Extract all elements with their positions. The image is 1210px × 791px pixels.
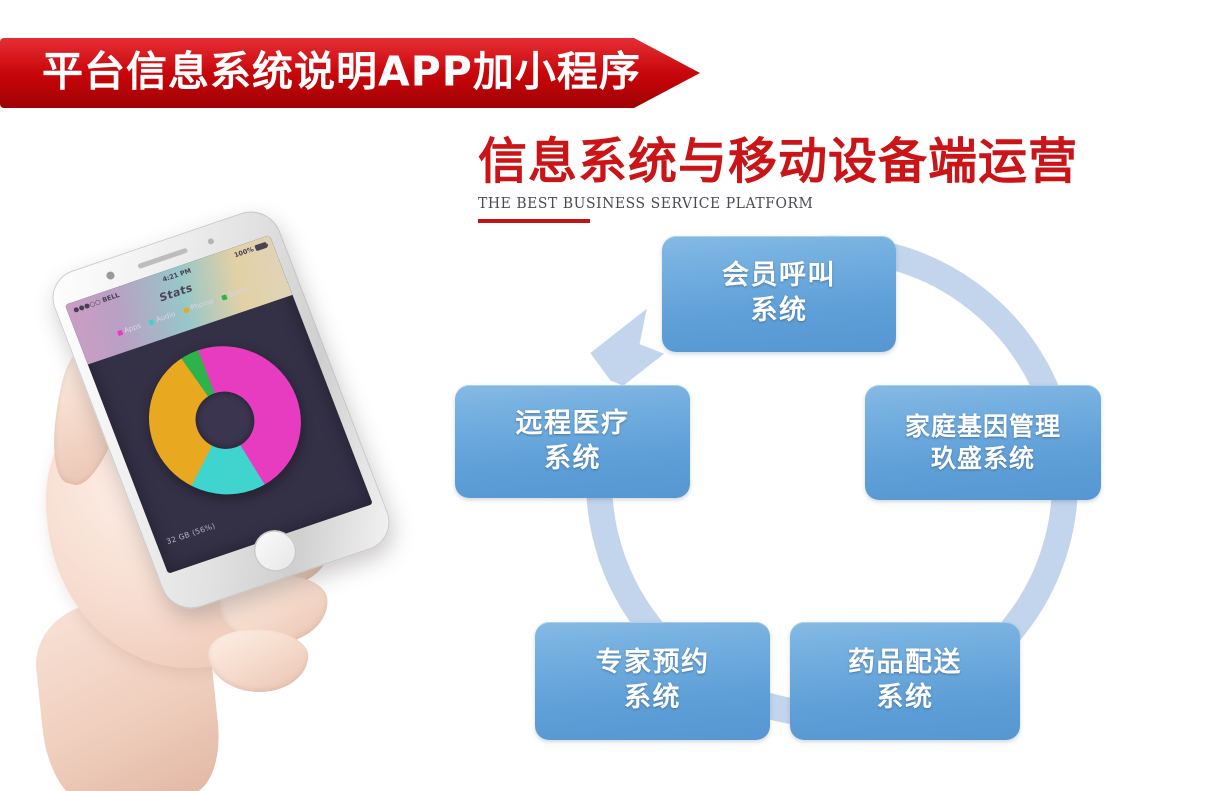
legend-swatch-icon — [148, 319, 155, 325]
poster-canvas: 平台信息系统说明APP加小程序 信息系统与移动设备端运营 THE BEST BU… — [0, 0, 1210, 791]
title-underline-rule — [478, 219, 590, 223]
battery-icon — [254, 241, 268, 250]
cycle-node-label: 远程医疗 系统 — [516, 407, 630, 476]
proximity-sensor-icon — [207, 238, 215, 246]
cycle-node-expert-appointment-system[interactable]: 专家预约 系统 — [535, 622, 770, 740]
cycle-node-drug-delivery-system[interactable]: 药品配送 系统 — [790, 622, 1020, 740]
cycle-node-label: 家庭基因管理 玖盛系统 — [905, 411, 1061, 475]
cycle-node-telemedicine-system[interactable]: 远程医疗 系统 — [455, 385, 690, 498]
cycle-node-member-call-system[interactable]: 会员呼叫 系统 — [662, 236, 896, 352]
banner-title: 平台信息系统说明APP加小程序 — [42, 52, 641, 93]
cycle-node-family-gene-management-system[interactable]: 家庭基因管理 玖盛系统 — [865, 385, 1101, 500]
page-subtitle: THE BEST BUSINESS SERVICE PLATFORM — [478, 194, 1055, 212]
cycle-node-label: 会员呼叫 系统 — [722, 259, 836, 328]
header-ribbon-banner: 平台信息系统说明APP加小程序 — [0, 38, 700, 108]
headline-block: 信息系统与移动设备端运营 THE BEST BUSINESS SERVICE P… — [478, 136, 1098, 223]
cycle-diagram: 会员呼叫 系统 家庭基因管理 玖盛系统 药品配送 系统 专家预约 系统 远程医疗… — [440, 228, 1140, 768]
cycle-node-label: 专家预约 系统 — [596, 646, 710, 715]
storage-donut-chart — [127, 326, 323, 514]
page-title: 信息系统与移动设备端运营 — [478, 136, 1098, 187]
battery-percent-label: 100% — [233, 245, 255, 259]
cycle-arrowhead — [585, 307, 667, 389]
legend-swatch-icon — [183, 307, 190, 313]
hand-holding-phone-photo: ●●●○○ BELL 4:21 PM 100% Stats Apps — [40, 230, 460, 775]
front-camera-icon — [105, 271, 115, 281]
legend-swatch-icon — [116, 329, 123, 335]
storage-total-label: 32 GB (56%) — [165, 521, 217, 546]
legend-swatch-icon — [221, 294, 228, 300]
cycle-node-label: 药品配送 系统 — [848, 646, 962, 715]
finger-pinky — [207, 628, 309, 693]
